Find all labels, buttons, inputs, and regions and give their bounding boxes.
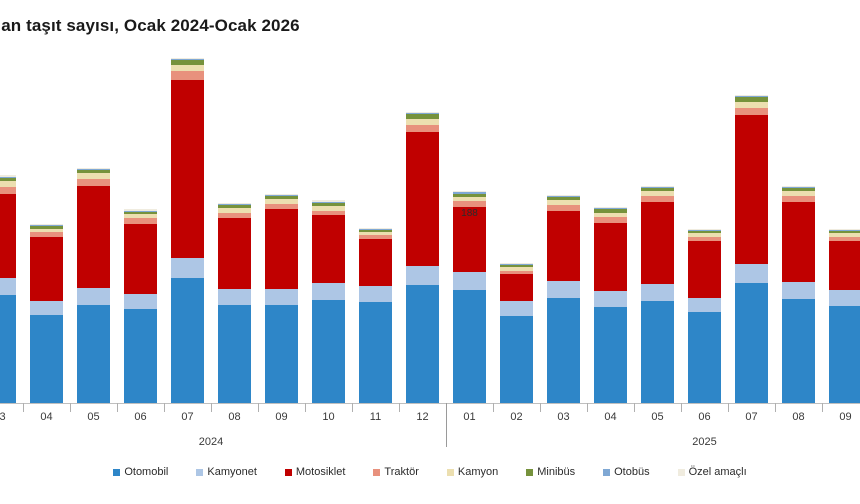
bar-segment-motosiklet xyxy=(359,239,392,287)
axis-month-label: 05 xyxy=(70,411,117,423)
plot-area: 188 xyxy=(0,52,860,403)
bar-segment-motosiklet xyxy=(171,80,204,258)
bar-segment-motosiklet xyxy=(265,209,298,288)
bar-segment-motosiklet xyxy=(406,132,439,266)
bar-segment-otomobil xyxy=(171,278,204,403)
bar-segment-otomobil xyxy=(829,306,860,403)
bar-segment-motosiklet xyxy=(218,218,251,288)
axis-month-label: 07 xyxy=(728,411,775,423)
bar-2025-02[interactable] xyxy=(500,263,533,403)
legend-label: Kamyonet xyxy=(207,466,257,478)
bar-segment-kamyonet xyxy=(406,266,439,285)
legend-item-trakt-r[interactable]: Traktör xyxy=(373,466,418,478)
legend-label: Özel amaçlı xyxy=(689,466,747,478)
bar-segment-motosiklet xyxy=(312,215,345,283)
legend-label: Kamyon xyxy=(458,466,498,478)
legend-swatch-icon xyxy=(603,469,610,476)
bar-segment-kamyonet xyxy=(359,286,392,302)
bar-segment-kamyonet xyxy=(735,264,768,283)
bar-segment-motosiklet xyxy=(77,186,110,288)
bar-segment-motosiklet xyxy=(124,224,157,294)
bar-segment-kamyonet xyxy=(171,258,204,278)
bar-segment-otomobil xyxy=(547,298,580,403)
bar-segment-kamyonet xyxy=(77,288,110,305)
legend-label: Otomobil xyxy=(124,466,168,478)
bar-2024-12[interactable] xyxy=(406,112,439,403)
bar-segment-otomobil xyxy=(265,305,298,404)
bar-2024-10[interactable] xyxy=(312,200,345,403)
bar-segment-trakt-r xyxy=(77,179,110,186)
bar-segment-trakt-r xyxy=(406,125,439,133)
bar-2025-04[interactable] xyxy=(594,207,627,403)
axis-month-label: 08 xyxy=(775,411,822,423)
bar-segment-kamyonet xyxy=(688,298,721,313)
bar-2025-05[interactable] xyxy=(641,186,674,403)
bar-segment-kamyonet xyxy=(30,301,63,315)
bar-segment-motosiklet xyxy=(0,194,16,279)
legend-swatch-icon xyxy=(678,469,685,476)
axis-month-label: 04 xyxy=(23,411,70,423)
bar-segment-kamyonet xyxy=(594,291,627,307)
bar-segment-motosiklet xyxy=(30,237,63,302)
bar-segment-kamyonet xyxy=(218,289,251,305)
axis-month-label: 02 xyxy=(493,411,540,423)
axis-line xyxy=(0,403,860,404)
legend-swatch-icon xyxy=(526,469,533,476)
bar-segment-otomobil xyxy=(359,302,392,403)
bar-segment-kamyonet xyxy=(124,294,157,309)
bar-segment-otomobil xyxy=(453,290,486,403)
data-label-188: 188 xyxy=(445,208,495,219)
bar-segment-kamyonet xyxy=(641,284,674,301)
axis-month-label: 08 xyxy=(211,411,258,423)
bar-segment-kamyon xyxy=(171,65,204,72)
x-axis: 0304050607080910111201020304050607080910… xyxy=(0,403,860,455)
bar-segment-motosiklet xyxy=(782,202,815,282)
axis-month-label: 03 xyxy=(540,411,587,423)
legend-swatch-icon xyxy=(447,469,454,476)
bar-segment-motosiklet xyxy=(735,115,768,263)
bar-segment-otomobil xyxy=(500,316,533,403)
bar-segment-motosiklet xyxy=(594,223,627,291)
bar-2025-07[interactable] xyxy=(735,95,768,403)
legend-swatch-icon xyxy=(196,469,203,476)
legend-label: Motosiklet xyxy=(296,466,346,478)
axis-month-label: 01 xyxy=(446,411,493,423)
bar-segment-otomobil xyxy=(312,300,345,403)
legend-swatch-icon xyxy=(113,469,120,476)
chart-root: yapılan taşıt sayısı, Ocak 2024-Ocak 202… xyxy=(0,0,860,504)
axis-month-label: 07 xyxy=(164,411,211,423)
bar-segment-otomobil xyxy=(30,315,63,403)
bar-segment-motosiklet xyxy=(829,241,860,290)
bar-2025-06[interactable] xyxy=(688,229,721,403)
axis-month-label: 06 xyxy=(117,411,164,423)
bar-2024-08[interactable] xyxy=(218,203,251,403)
legend-item-otomobil[interactable]: Otomobil xyxy=(113,466,168,478)
bar-segment-motosiklet xyxy=(641,202,674,285)
bar-segment-motosiklet xyxy=(688,241,721,298)
axis-year-2024: 2024 xyxy=(0,436,446,448)
bar-segment-otomobil xyxy=(124,309,157,403)
bar-segment-kamyonet xyxy=(312,283,345,300)
bar-segment-motosiklet xyxy=(500,274,533,301)
bar-2024-04[interactable] xyxy=(30,224,63,403)
bar-segment-kamyonet xyxy=(500,301,533,316)
bar-segment-otomobil xyxy=(688,312,721,403)
bar-segment-otomobil xyxy=(218,305,251,404)
bar-2024-06[interactable] xyxy=(124,209,157,403)
legend-label: Minibüs xyxy=(537,466,575,478)
bar-segment-otomobil xyxy=(641,301,674,403)
axis-month-label: 06 xyxy=(681,411,728,423)
legend-item-kamyon[interactable]: Kamyon xyxy=(447,466,498,478)
axis-month-label: 04 xyxy=(587,411,634,423)
bar-2025-01[interactable] xyxy=(453,191,486,403)
legend-item-otob-s[interactable]: Otobüs xyxy=(603,466,649,478)
bar-segment-kamyonet xyxy=(453,272,486,290)
bar-segment-otomobil xyxy=(406,285,439,403)
axis-year-2025: 2025 xyxy=(446,436,860,448)
bar-segment-kamyonet xyxy=(829,290,860,306)
axis-month-label: 10 xyxy=(305,411,352,423)
legend-swatch-icon xyxy=(373,469,380,476)
bar-segment-motosiklet xyxy=(547,211,580,281)
bar-2024-11[interactable] xyxy=(359,228,392,404)
legend-swatch-icon xyxy=(285,469,292,476)
legend-label: Traktör xyxy=(384,466,418,478)
bar-2025-08[interactable] xyxy=(782,186,815,403)
legend-item-kamyonet[interactable]: Kamyonet xyxy=(196,466,257,478)
legend-item-minib-s[interactable]: Minibüs xyxy=(526,466,575,478)
chart-legend: OtomobilKamyonetMotosikletTraktörKamyonM… xyxy=(0,462,860,482)
bar-2024-09[interactable] xyxy=(265,194,298,403)
axis-month-label: 09 xyxy=(822,411,860,423)
legend-item--zel-ama-l-[interactable]: Özel amaçlı xyxy=(678,466,747,478)
axis-month-label: 11 xyxy=(352,411,399,423)
bar-2025-03[interactable] xyxy=(547,195,580,403)
bar-segment-otomobil xyxy=(782,299,815,403)
axis-month-label: 12 xyxy=(399,411,446,423)
bar-segment-kamyonet xyxy=(265,289,298,305)
bar-segment-otomobil xyxy=(594,307,627,403)
axis-month-label: 09 xyxy=(258,411,305,423)
axis-month-label: 03 xyxy=(0,411,23,423)
bar-segment-trakt-r xyxy=(0,187,16,194)
bar-segment-trakt-r xyxy=(735,108,768,116)
bar-2024-05[interactable] xyxy=(77,168,110,404)
bar-2024-07[interactable] xyxy=(171,58,204,403)
bar-layer xyxy=(0,52,860,403)
bar-segment-otomobil xyxy=(77,305,110,404)
bar-segment-kamyonet xyxy=(0,278,16,295)
bar-segment-trakt-r xyxy=(171,71,204,80)
page-title: yapılan taşıt sayısı, Ocak 2024-Ocak 202… xyxy=(0,16,482,36)
legend-item-motosiklet[interactable]: Motosiklet xyxy=(285,466,346,478)
bar-2025-09[interactable] xyxy=(829,229,860,403)
bar-2024-03[interactable] xyxy=(0,175,16,403)
legend-label: Otobüs xyxy=(614,466,649,478)
bar-segment-otomobil xyxy=(735,283,768,403)
bar-segment-kamyonet xyxy=(547,281,580,298)
axis-month-label: 05 xyxy=(634,411,681,423)
bar-segment-otomobil xyxy=(0,295,16,403)
bar-segment-kamyonet xyxy=(782,282,815,299)
